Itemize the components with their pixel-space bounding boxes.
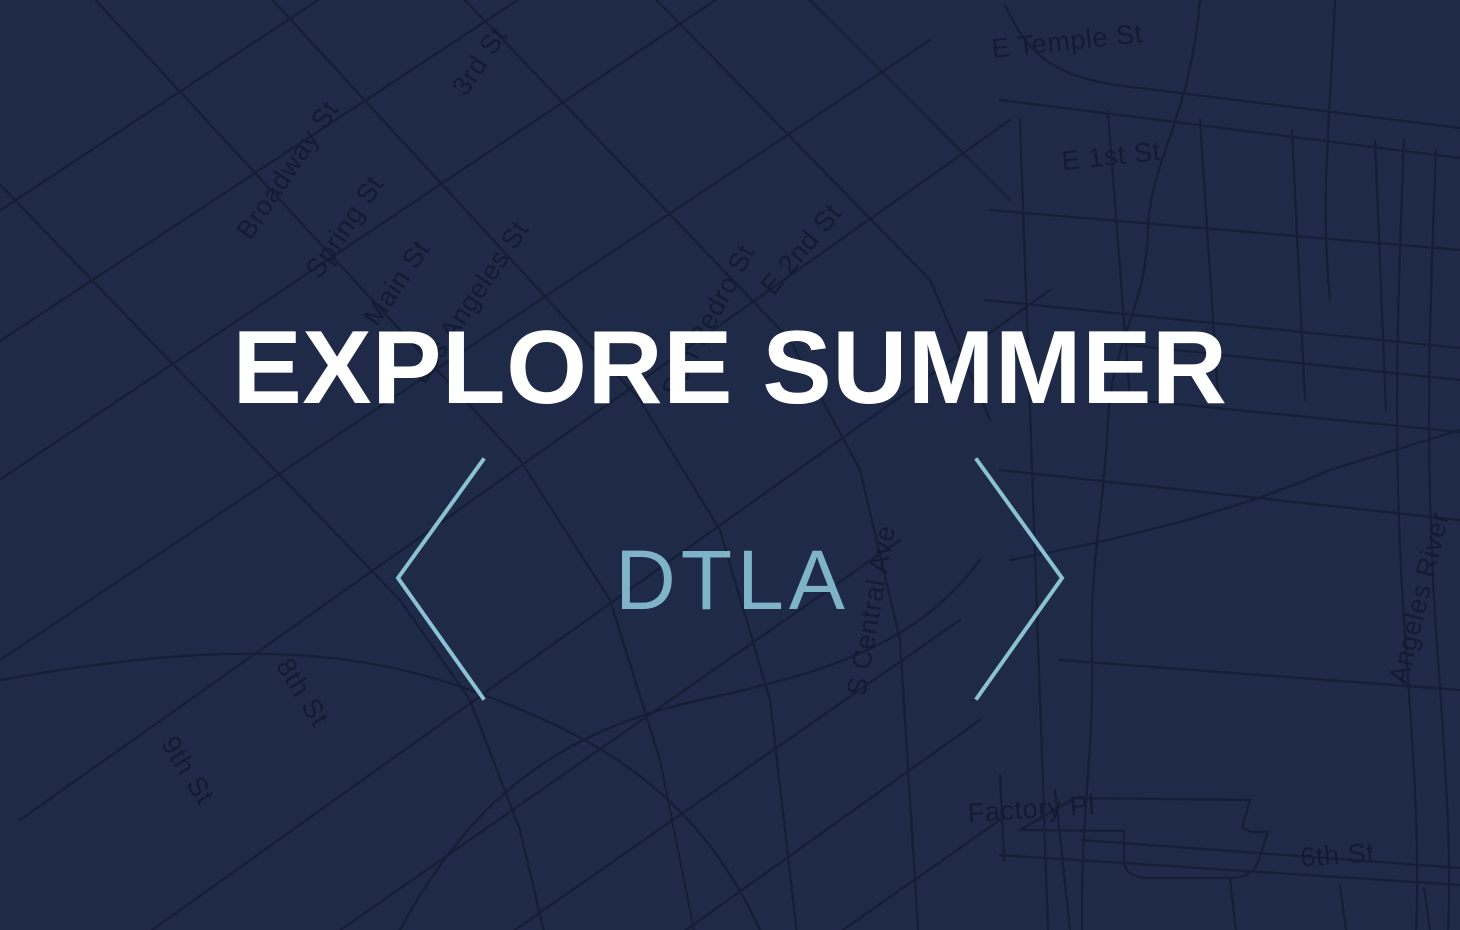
banner-content: EXPLORE SUMMER DTLA [0, 0, 1460, 930]
page-title: EXPLORE SUMMER [0, 316, 1460, 420]
explore-summer-banner: Broadway St Spring St Main St 3rd St Los… [0, 0, 1460, 930]
page-subtitle: DTLA [0, 450, 1460, 710]
subtitle-row: DTLA [0, 450, 1460, 710]
